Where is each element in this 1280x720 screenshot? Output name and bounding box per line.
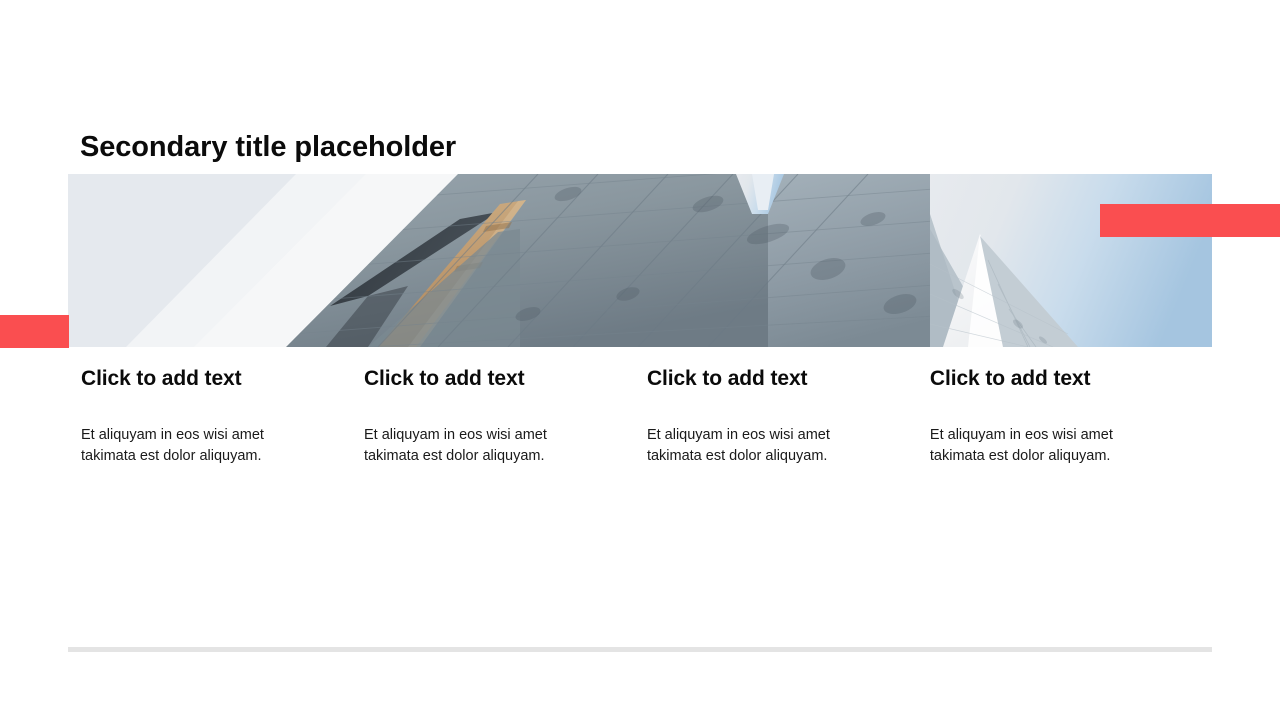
- column-heading-2[interactable]: Click to add text: [364, 366, 597, 392]
- content-column-2: Click to add text Et aliquyam in eos wis…: [364, 366, 647, 467]
- content-columns: Click to add text Et aliquyam in eos wis…: [81, 366, 1212, 467]
- footer-divider: [68, 647, 1212, 652]
- column-body-2[interactable]: Et aliquyam in eos wisi amet takimata es…: [364, 425, 579, 467]
- column-body-3[interactable]: Et aliquyam in eos wisi amet takimata es…: [647, 425, 862, 467]
- column-heading-1[interactable]: Click to add text: [81, 366, 314, 392]
- column-body-1[interactable]: Et aliquyam in eos wisi amet takimata es…: [81, 425, 296, 467]
- content-column-3: Click to add text Et aliquyam in eos wis…: [647, 366, 930, 467]
- column-body-4[interactable]: Et aliquyam in eos wisi amet takimata es…: [930, 425, 1145, 467]
- accent-bar-left: [0, 315, 69, 348]
- accent-bar-right: [1100, 204, 1280, 237]
- presentation-slide: Secondary title placeholder: [0, 0, 1280, 720]
- content-column-4: Click to add text Et aliquyam in eos wis…: [930, 366, 1212, 467]
- content-column-1: Click to add text Et aliquyam in eos wis…: [81, 366, 364, 467]
- column-heading-4[interactable]: Click to add text: [930, 366, 1212, 392]
- hero-image[interactable]: [68, 174, 1212, 347]
- page-title[interactable]: Secondary title placeholder: [80, 130, 980, 164]
- hero-image-artwork: [68, 174, 1212, 347]
- column-heading-3[interactable]: Click to add text: [647, 366, 880, 392]
